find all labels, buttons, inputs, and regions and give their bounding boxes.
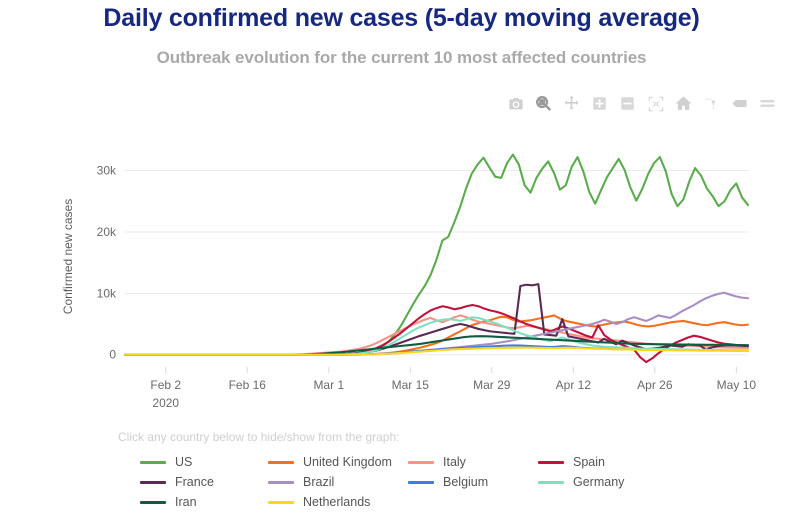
legend-swatch xyxy=(408,461,434,464)
legend-item-iran[interactable]: Iran xyxy=(140,492,268,512)
legend-swatch xyxy=(140,461,166,464)
legend-label: Italy xyxy=(443,455,466,469)
legend-swatch xyxy=(408,481,434,484)
chart-plot-area[interactable]: 010k20k30kFeb 22020Feb 16Mar 1Mar 15Mar … xyxy=(0,110,803,420)
legend-swatch xyxy=(538,481,564,484)
page-subtitle: Outbreak evolution for the current 10 mo… xyxy=(0,48,803,68)
page-title: Daily confirmed new cases (5-day moving … xyxy=(0,4,803,33)
legend-swatch xyxy=(268,461,294,464)
series-line-brazil[interactable] xyxy=(125,293,748,355)
x-tick-year-label: 2020 xyxy=(152,396,179,410)
x-tick-label: May 10 xyxy=(717,378,757,392)
legend-item-united-kingdom[interactable]: United Kingdom xyxy=(268,452,408,472)
x-tick-label: Apr 12 xyxy=(556,378,592,392)
legend-label: Germany xyxy=(573,475,624,489)
chart-legend[interactable]: USUnited KingdomItalySpainFranceBrazilBe… xyxy=(140,452,800,512)
legend-swatch xyxy=(140,481,166,484)
x-tick-label: Feb 16 xyxy=(229,378,267,392)
y-axis-title: Confirmed new cases xyxy=(61,199,75,314)
legend-item-netherlands[interactable]: Netherlands xyxy=(268,492,408,512)
legend-label: Iran xyxy=(175,495,197,509)
x-tick-label: Apr 26 xyxy=(637,378,673,392)
y-tick-label: 30k xyxy=(97,164,117,178)
legend-swatch xyxy=(140,501,166,504)
legend-label: France xyxy=(175,475,214,489)
legend-swatch xyxy=(268,481,294,484)
legend-item-france[interactable]: France xyxy=(140,472,268,492)
legend-label: US xyxy=(175,455,192,469)
legend-label: Brazil xyxy=(303,475,334,489)
y-tick-label: 0 xyxy=(109,348,116,362)
legend-swatch xyxy=(268,501,294,504)
x-tick-label: Mar 29 xyxy=(473,378,511,392)
x-tick-label: Mar 15 xyxy=(392,378,430,392)
series-line-spain[interactable] xyxy=(125,305,748,362)
legend-item-italy[interactable]: Italy xyxy=(408,452,538,472)
series-line-iran[interactable] xyxy=(125,336,748,355)
y-tick-label: 20k xyxy=(97,225,117,239)
x-tick-label: Mar 1 xyxy=(313,378,344,392)
legend-label: Netherlands xyxy=(303,495,370,509)
legend-item-us[interactable]: US xyxy=(140,452,268,472)
legend-label: United Kingdom xyxy=(303,455,392,469)
legend-item-belgium[interactable]: Belgium xyxy=(408,472,538,492)
legend-label: Spain xyxy=(573,455,605,469)
x-tick-label: Feb 2 xyxy=(150,378,181,392)
y-tick-label: 10k xyxy=(97,286,117,300)
legend-swatch xyxy=(538,461,564,464)
legend-item-germany[interactable]: Germany xyxy=(538,472,688,492)
legend-hint: Click any country below to hide/show fro… xyxy=(118,430,399,444)
legend-item-brazil[interactable]: Brazil xyxy=(268,472,408,492)
legend-item-spain[interactable]: Spain xyxy=(538,452,688,472)
legend-label: Belgium xyxy=(443,475,488,489)
chart-page: Daily confirmed new cases (5-day moving … xyxy=(0,0,803,519)
line-chart-svg[interactable]: 010k20k30kFeb 22020Feb 16Mar 1Mar 15Mar … xyxy=(0,110,803,420)
